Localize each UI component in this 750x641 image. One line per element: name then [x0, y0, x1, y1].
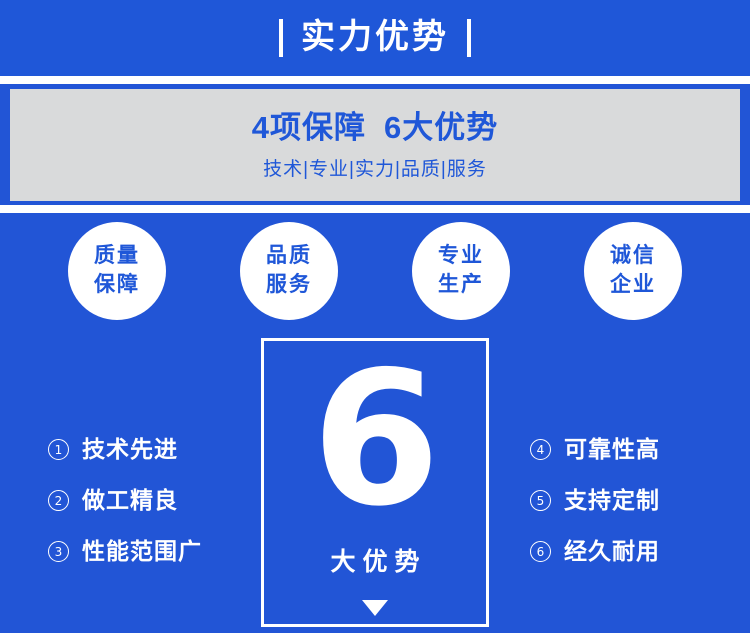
- circle-badge-service-line1: 品质: [266, 242, 312, 270]
- header-divider: [0, 76, 750, 84]
- feature-text-2: 做工精良: [82, 489, 178, 512]
- feature-list-right: 4 可靠性高 5 支持定制 6 经久耐用: [530, 424, 730, 577]
- feature-number-6: 6: [530, 541, 551, 562]
- feature-number-4: 4: [530, 439, 551, 460]
- feature-item-2: 2 做工精良: [48, 475, 248, 526]
- circle-badge-quality-line1: 质量: [94, 242, 140, 270]
- feature-text-6: 经久耐用: [564, 540, 660, 563]
- circle-badge-service-line2: 服务: [266, 271, 312, 299]
- feature-list-left: 1 技术先进 2 做工精良 3 性能范围广: [48, 424, 248, 577]
- banner-divider: [0, 205, 750, 213]
- feature-number-2: 2: [48, 490, 69, 511]
- feature-item-5: 5 支持定制: [530, 475, 730, 526]
- feature-item-1: 1 技术先进: [48, 424, 248, 475]
- circle-badge-service: 品质 服务: [240, 222, 338, 320]
- feature-item-6: 6 经久耐用: [530, 526, 730, 577]
- circle-badges: 质量 保障 品质 服务 专业 生产 诚信 企业: [0, 218, 750, 323]
- circle-badge-production-line1: 专业: [438, 242, 484, 270]
- bottom-divider: [0, 633, 750, 641]
- feature-text-4: 可靠性高: [564, 438, 660, 461]
- feature-text-5: 支持定制: [564, 489, 660, 512]
- advantages-count-number: 6: [312, 347, 439, 532]
- feature-number-3: 3: [48, 541, 69, 562]
- promo-page: 实力优势 4项保障6大优势 技术|专业|实力|品质|服务 质量 保障 品质 服务…: [0, 0, 750, 641]
- circle-badge-production-line2: 生产: [438, 271, 484, 299]
- circle-badge-integrity-line2: 企业: [610, 271, 656, 299]
- advantages-count-box: 6 大优势: [261, 338, 489, 627]
- banner-title-part1: 4项保障: [252, 110, 366, 145]
- feature-item-3: 3 性能范围广: [48, 526, 248, 577]
- down-arrow-icon: [362, 600, 388, 616]
- guarantee-banner: 4项保障6大优势 技术|专业|实力|品质|服务: [10, 89, 740, 201]
- feature-text-1: 技术先进: [82, 438, 178, 461]
- feature-number-5: 5: [530, 490, 551, 511]
- circle-badge-quality: 质量 保障: [68, 222, 166, 320]
- banner-title: 4项保障6大优势: [252, 112, 499, 143]
- circle-badge-quality-line2: 保障: [94, 271, 140, 299]
- feature-number-1: 1: [48, 439, 69, 460]
- circle-badge-integrity: 诚信 企业: [584, 222, 682, 320]
- circle-badge-integrity-line1: 诚信: [610, 242, 656, 270]
- header-left-bar: [279, 19, 283, 57]
- advantages-count-label: 大优势: [323, 542, 426, 578]
- page-title: 实力优势: [301, 20, 449, 57]
- page-header: 实力优势: [0, 0, 750, 76]
- circle-badge-production: 专业 生产: [412, 222, 510, 320]
- header-right-bar: [467, 19, 471, 57]
- banner-subtitle: 技术|专业|实力|品质|服务: [263, 160, 487, 179]
- header-inner: 实力优势: [279, 19, 471, 57]
- feature-text-3: 性能范围广: [82, 540, 202, 563]
- banner-title-part2: 6大优势: [384, 110, 498, 145]
- feature-item-4: 4 可靠性高: [530, 424, 730, 475]
